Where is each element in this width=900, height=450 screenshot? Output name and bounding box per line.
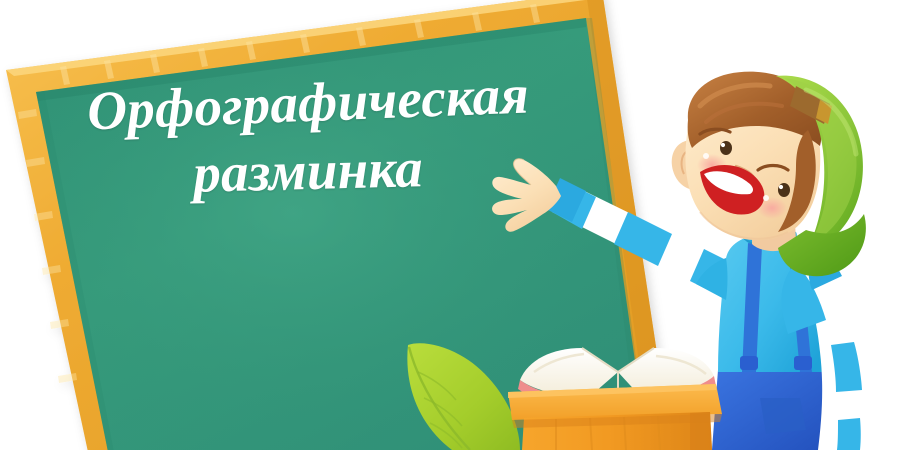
lectern-with-book — [0, 0, 900, 450]
lectern — [508, 384, 722, 450]
slide-canvas: Орфографическая разминка — [0, 0, 900, 450]
